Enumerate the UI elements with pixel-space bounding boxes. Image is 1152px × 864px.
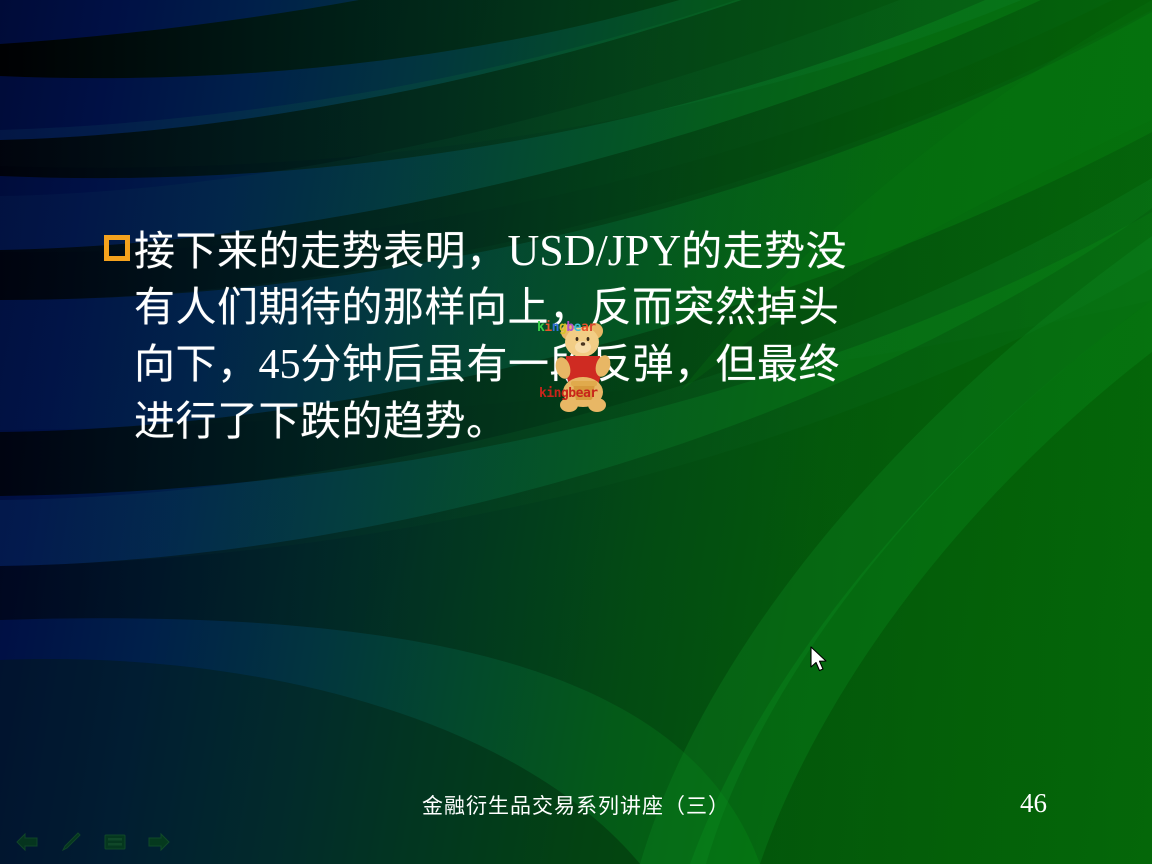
- body-line-3: 向下， 45 分钟后虽有一段反弹，但最终: [104, 336, 1064, 393]
- body-line-1-seg-3: 的走势没: [681, 223, 847, 280]
- slide-body-text: 接下来的走势表明， USD/JPY 的走势没 有人们期待的那样向上，反而突然掉头…: [104, 222, 1064, 450]
- body-line-1-seg-1: 接下来的走势表明，: [134, 223, 508, 280]
- body-line-2-seg-1: 有人们期待的那样向上，反而突然掉头: [134, 279, 840, 336]
- body-line-4-seg-1: 进行了下跌的趋势。: [134, 393, 508, 450]
- body-line-4: 进行了下跌的趋势。: [104, 393, 1064, 450]
- arrow-left-icon: [15, 832, 39, 852]
- body-line-1-seg-2: USD/JPY: [508, 222, 682, 279]
- menu-button[interactable]: [102, 830, 128, 854]
- bullet-square-icon: [104, 235, 130, 261]
- body-line-2: 有人们期待的那样向上，反而突然掉头: [104, 279, 1064, 336]
- pen-icon: [60, 831, 82, 853]
- slide-page-number: 46: [1020, 788, 1047, 819]
- body-line-3-seg-3: 分钟后虽有一段反弹，但最终: [301, 336, 841, 393]
- pen-tool-button[interactable]: [58, 830, 84, 854]
- arrow-right-icon: [147, 832, 171, 852]
- body-line-3-seg-2: 45: [259, 337, 301, 394]
- previous-slide-button[interactable]: [14, 830, 40, 854]
- screen-menu-icon: [103, 833, 127, 851]
- body-line-1: 接下来的走势表明， USD/JPY 的走势没: [104, 222, 1064, 279]
- body-line-3-seg-1: 向下，: [134, 336, 259, 393]
- slideshow-navigation-toolbar: [14, 830, 172, 854]
- next-slide-button[interactable]: [146, 830, 172, 854]
- slide-footer-title: 金融衍生品交易系列讲座（三）: [0, 790, 1152, 820]
- presentation-slide: 接下来的走势表明， USD/JPY 的走势没 有人们期待的那样向上，反而突然掉头…: [0, 0, 1152, 864]
